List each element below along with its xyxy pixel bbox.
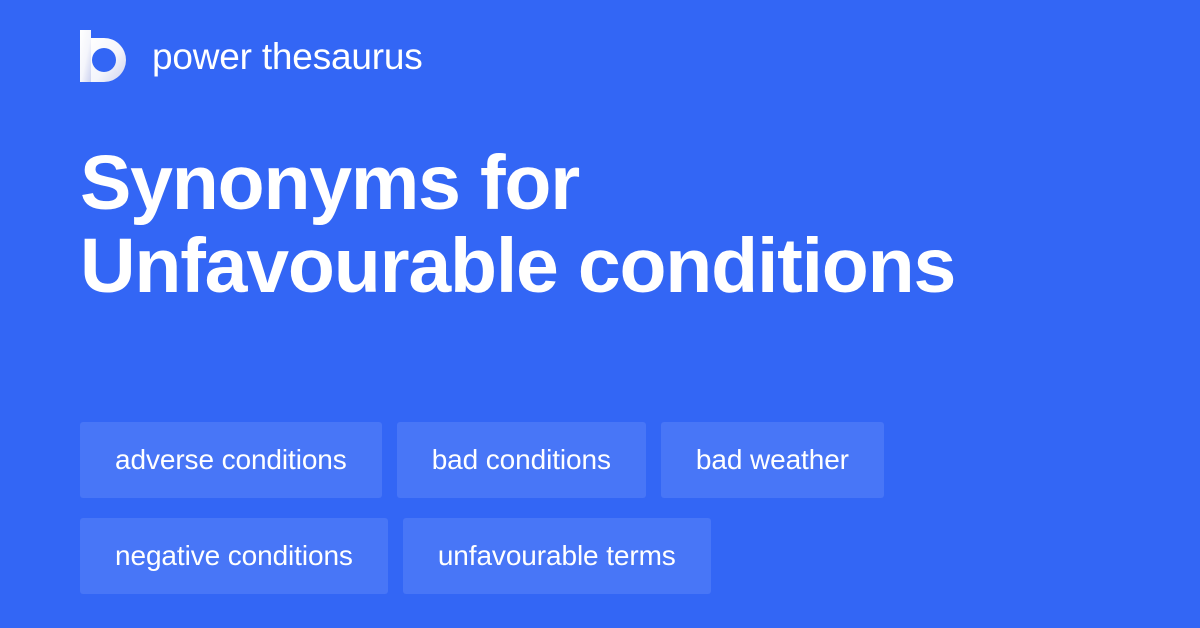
synonym-list: adverse conditions bad conditions bad we… [80, 422, 1120, 594]
synonym-chip[interactable]: bad weather [661, 422, 884, 498]
synonym-row: negative conditions unfavourable terms [80, 518, 1120, 594]
synonym-chip[interactable]: negative conditions [80, 518, 388, 594]
brand-header[interactable]: power thesaurus [80, 28, 423, 84]
page-title-line-1: Synonyms for [80, 142, 1110, 225]
brand-name: power thesaurus [152, 38, 423, 75]
synonym-chip[interactable]: bad conditions [397, 422, 646, 498]
synonym-chip[interactable]: adverse conditions [80, 422, 382, 498]
synonym-chip[interactable]: unfavourable terms [403, 518, 711, 594]
power-thesaurus-b-logo-icon [80, 30, 128, 82]
page-title-line-2: Unfavourable conditions [80, 225, 1110, 308]
share-card: power thesaurus Synonyms for Unfavourabl… [0, 0, 1200, 628]
synonym-row: adverse conditions bad conditions bad we… [80, 422, 1120, 498]
page-title: Synonyms for Unfavourable conditions [80, 142, 1110, 308]
